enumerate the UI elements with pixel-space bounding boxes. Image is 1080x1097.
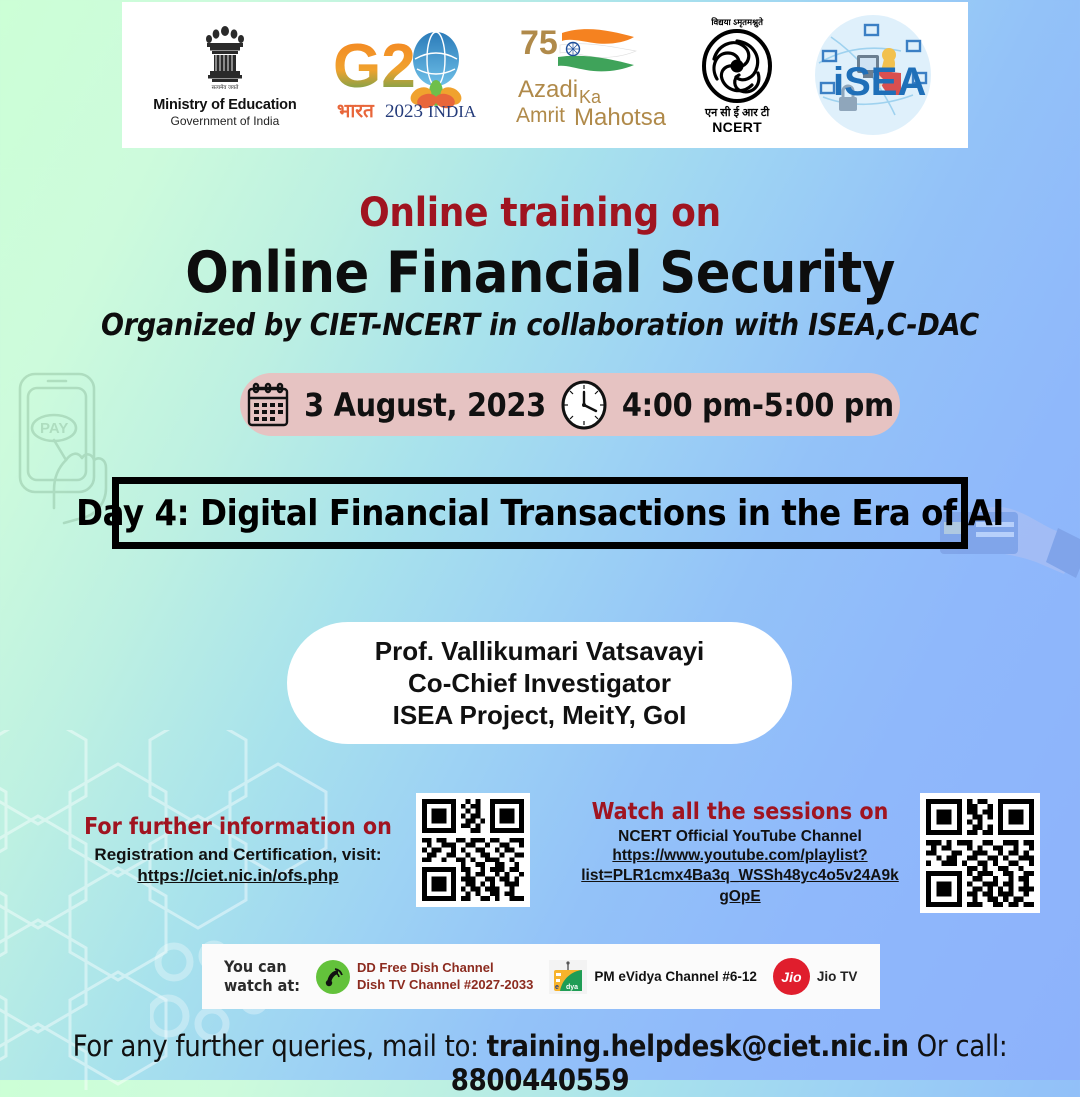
dd-free-dish-text: DD Free Dish Channel Dish TV Channel #20… [357, 960, 533, 994]
ncert-name-english: NCERT [712, 120, 762, 134]
calendar-icon [246, 382, 290, 428]
footer-middle: Or call: [909, 1029, 1008, 1063]
sessions-text: Watch all the sessions on NCERT Official… [560, 799, 920, 907]
channel-pm-evidya: e dya PM eVidya Channel #6-12 [549, 960, 757, 994]
youtube-playlist-link-line1[interactable]: https://www.youtube.com/playlist? [560, 846, 920, 866]
youtube-playlist-link-line3[interactable]: gOpE [560, 887, 920, 907]
qr-code-youtube-playlist-icon[interactable] [920, 793, 1040, 913]
registration-text: For further information on Registration … [60, 814, 416, 886]
watch-at-label: You can watch at: [224, 958, 300, 996]
azadi-ka-amrit-mahotsav-logo: 75 Azadi Ka Amrit Mahotsav [516, 2, 666, 148]
registration-link[interactable]: https://ciet.nic.in/ofs.php [137, 865, 338, 886]
svg-text:e: e [555, 984, 559, 991]
azadi-line1: Azadi [518, 76, 578, 103]
dd-line2: Dish TV Channel #2027-2033 [357, 977, 533, 994]
youtube-playlist-link-line2[interactable]: list=PLR1cmx4Ba3q_WSSh48yc4o5v24A9k [560, 866, 920, 886]
ministry-caption: Ministry of Education [153, 97, 296, 113]
qr-code-registration-icon[interactable] [416, 793, 530, 907]
speaker-card: Prof. Vallikumari Vatsavayi Co-Chief Inv… [287, 622, 792, 744]
isea-wordmark: iSEA [833, 60, 926, 104]
speaker-role: Co-Chief Investigator [408, 667, 671, 699]
jio-tv-icon: Jio [773, 958, 810, 995]
g20-year: 2023 [385, 101, 423, 122]
session-topic-box: Day 4: Digital Financial Transactions in… [112, 477, 968, 549]
emblem-motto: सत्यमेव जयते [211, 84, 239, 91]
registration-heading: For further information on [60, 814, 416, 842]
svg-text:dya: dya [566, 984, 578, 991]
logo-strip: सत्यमेव जयते Ministry of Education Gover… [122, 2, 968, 148]
dd-free-dish-icon [316, 960, 350, 994]
speaker-affiliation: ISEA Project, MeitY, GoI [393, 699, 687, 731]
pm-evidya-icon: e dya [549, 960, 587, 994]
event-date: 3 August, 2023 [304, 386, 546, 424]
youtube-channel-name: NCERT Official YouTube Channel [560, 827, 920, 847]
g20-hindi: भारत [337, 101, 375, 122]
isea-logo-icon: iSEA [809, 11, 937, 139]
clock-icon [560, 380, 608, 430]
g20-wordmark: G2 [333, 32, 416, 101]
footer-prefix: For any further queries, mail to: [73, 1029, 487, 1063]
footer-phone[interactable]: 8800440559 [451, 1063, 630, 1097]
watch-at-label-line2: watch at: [224, 977, 300, 996]
sessions-info-block: Watch all the sessions on NCERT Official… [560, 793, 1040, 913]
g20-logo: G2 भारत 2023 INDIA [331, 2, 481, 148]
ministry-subcaption: Government of India [171, 114, 280, 128]
india-national-emblem-icon: सत्यमेव जयते [199, 23, 251, 97]
g20-logo-icon: G2 भारत 2023 INDIA [331, 25, 481, 125]
ncert-logo: विद्यया ऽमृतमश्नुते एन सी ई आर टी NCERT [700, 2, 774, 148]
ncert-motto-hindi: विद्यया ऽमृतमश्नुते [711, 17, 763, 28]
datetime-pill: 3 August, 2023 4:00 pm-5:00 pm [240, 373, 900, 436]
footer-contact: For any further queries, mail to: traini… [0, 1029, 1080, 1097]
svg-text:PAY: PAY [40, 420, 68, 437]
kicker-heading: Online training on [0, 190, 1080, 236]
azadi-line4: Mahotsav [574, 104, 666, 129]
channel-jio-tv: Jio Jio TV [773, 958, 858, 995]
azadi-numeral: 75 [520, 24, 558, 62]
dd-line1: DD Free Dish Channel [357, 960, 533, 977]
session-topic: Day 4: Digital Financial Transactions in… [76, 493, 1004, 534]
ncert-name-hindi: एन सी ई आर टी [705, 105, 769, 120]
watch-at-bar: You can watch at: DD Free Dish Channel D… [202, 944, 880, 1009]
speaker-name: Prof. Vallikumari Vatsavayi [375, 635, 705, 667]
event-time: 4:00 pm-5:00 pm [622, 386, 894, 424]
watch-at-label-line1: You can [224, 958, 300, 977]
registration-subtext: Registration and Certification, visit: [60, 844, 416, 865]
azadi-line3: Amrit [516, 104, 565, 127]
organizer-line: Organized by CIET-NCERT in collaboration… [0, 308, 1080, 343]
g20-country: INDIA [428, 102, 477, 121]
channel-dd-free-dish: DD Free Dish Channel Dish TV Channel #20… [316, 960, 533, 994]
isea-logo: iSEA [809, 2, 937, 148]
pm-evidya-text: PM eVidya Channel #6-12 [594, 969, 757, 984]
ncert-logo-icon [700, 29, 774, 103]
footer-email[interactable]: training.helpdesk@ciet.nic.in [487, 1029, 909, 1063]
registration-info-block: For further information on Registration … [60, 793, 530, 907]
azadi-ka-amrit-mahotsav-icon: 75 Azadi Ka Amrit Mahotsav [516, 21, 666, 129]
jio-tv-text: Jio TV [817, 969, 858, 984]
page-title: Online Financial Security [0, 240, 1080, 306]
ministry-of-education-logo: सत्यमेव जयते Ministry of Education Gover… [153, 2, 296, 148]
sessions-heading: Watch all the sessions on [560, 799, 920, 827]
